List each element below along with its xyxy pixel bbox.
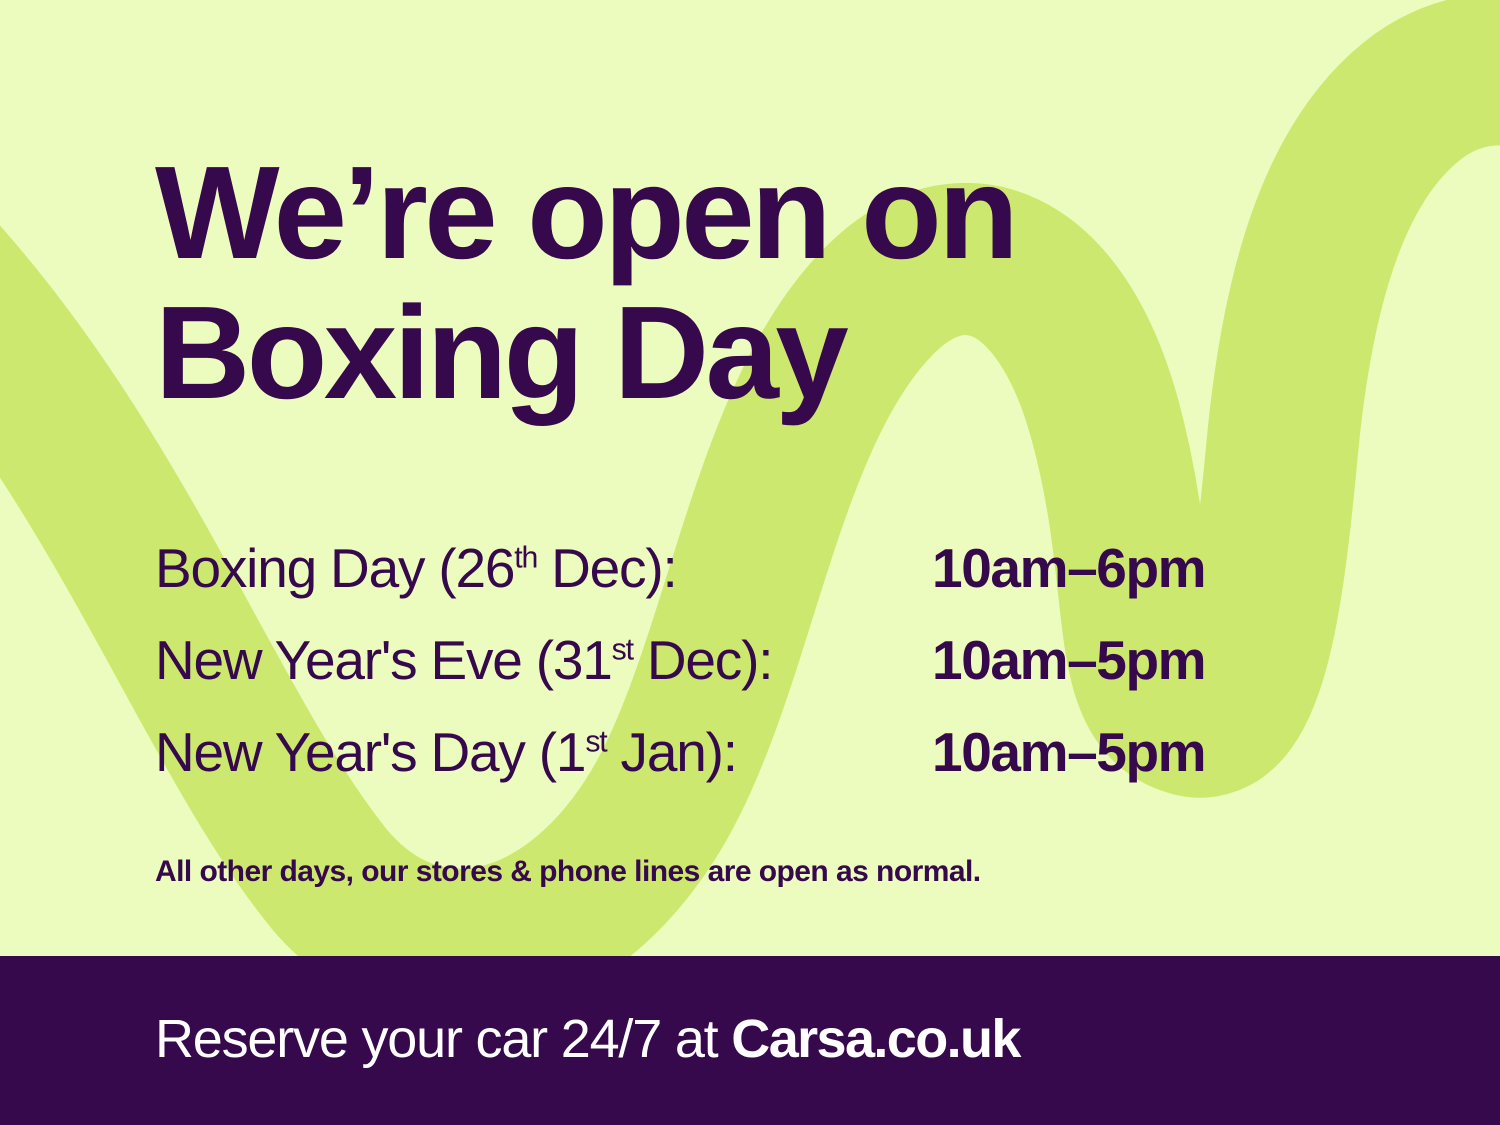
hours-label-text: New Year's Day (1 — [155, 721, 585, 783]
hours-row-new-years-eve: New Year's Eve (31st Dec): 10am–5pm — [155, 628, 1335, 720]
hours-value: 10am–5pm — [932, 628, 1205, 692]
reserve-cta[interactable]: Reserve your car 24/7 at Carsa.co.uk — [155, 1008, 1020, 1070]
hours-label-text: New Year's Eve (31 — [155, 629, 612, 691]
date-ordinal-suffix: st — [612, 634, 633, 667]
hours-label: New Year's Eve (31st Dec): — [155, 628, 932, 692]
hours-value: 10am–5pm — [932, 720, 1205, 784]
hours-label: Boxing Day (26th Dec): — [155, 536, 932, 600]
cta-prefix-text: Reserve your car 24/7 at — [155, 1009, 731, 1069]
promotional-banner: We’re open on Boxing Day Boxing Day (26t… — [0, 0, 1500, 1125]
date-ordinal-suffix: st — [585, 726, 606, 759]
brand-name: Carsa.co.uk — [731, 1009, 1020, 1069]
footer-bar: Reserve your car 24/7 at Carsa.co.uk — [0, 956, 1500, 1125]
main-content: We’re open on Boxing Day Boxing Day (26t… — [0, 0, 1500, 956]
fine-print-note: All other days, our stores & phone lines… — [155, 855, 981, 889]
opening-hours-list: Boxing Day (26th Dec): 10am–6pm New Year… — [155, 536, 1335, 812]
date-ordinal-suffix: th — [514, 542, 537, 575]
hours-row-new-years-day: New Year's Day (1st Jan): 10am–5pm — [155, 720, 1335, 812]
hours-label-text: Boxing Day (26 — [155, 537, 514, 599]
hours-label-suffix: Dec): — [537, 537, 677, 599]
page-title: We’re open on Boxing Day — [155, 143, 1355, 423]
hours-label-suffix: Dec): — [633, 629, 773, 691]
hours-label-suffix: Jan): — [606, 721, 736, 783]
hours-row-boxing-day: Boxing Day (26th Dec): 10am–6pm — [155, 536, 1335, 628]
hours-value: 10am–6pm — [932, 536, 1205, 600]
hours-label: New Year's Day (1st Jan): — [155, 720, 932, 784]
